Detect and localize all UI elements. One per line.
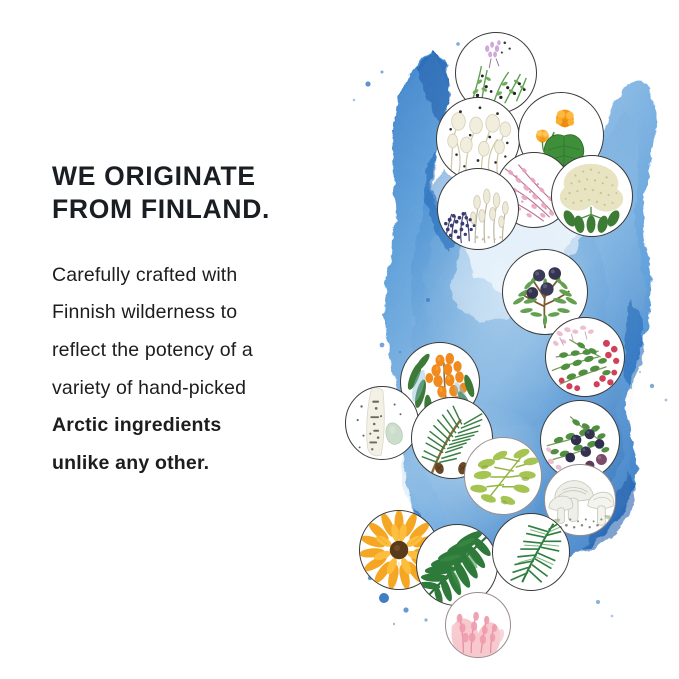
body-line-2: Finnish wilderness to xyxy=(52,294,352,332)
headline-line-2: FROM FINLAND. xyxy=(52,193,352,226)
copy-block: WE ORIGINATE FROM FINLAND. Carefully cra… xyxy=(52,160,352,483)
body-line-1: Carefully crafted with xyxy=(52,257,352,295)
headline-line-1: WE ORIGINATE xyxy=(52,160,352,193)
watercolor-map-svg xyxy=(330,0,679,679)
body-line-4: variety of hand-picked xyxy=(52,370,352,408)
body-line-6: unlike any other. xyxy=(52,445,352,483)
body-copy: Carefully crafted with Finnish wildernes… xyxy=(52,257,352,483)
poster-root: WE ORIGINATE FROM FINLAND. Carefully cra… xyxy=(0,0,679,679)
body-line-3: reflect the potency of a xyxy=(52,332,352,370)
page-title: WE ORIGINATE FROM FINLAND. xyxy=(52,160,352,227)
body-line-5: Arctic ingredients xyxy=(52,407,352,445)
finland-map-illustration xyxy=(330,0,679,679)
